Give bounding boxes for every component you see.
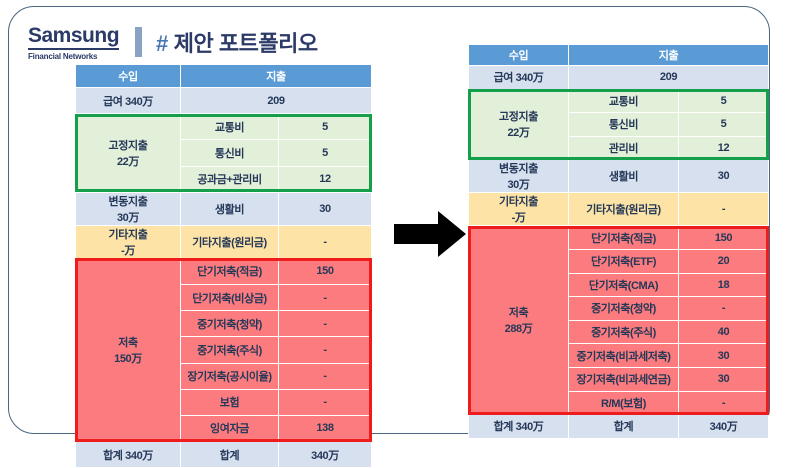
left-portfolio-table: 수입지출급여 340万209고정지출22万교통비5통신비5공과금+관리비12변동…: [75, 64, 372, 468]
expense-item: 단기저축(적금): [181, 258, 279, 284]
group-label-저축: 저축150万: [76, 258, 181, 441]
table-row: 변동지출30万생활비30: [76, 192, 372, 225]
expense-item: R/M(보험): [569, 391, 679, 415]
table-row: 저축288万단기저축(적금)150: [469, 226, 769, 250]
income-total-value: 209: [181, 88, 372, 114]
expense-item: 단기저축(ETF): [569, 249, 679, 273]
income-row: 급여 340万209: [469, 66, 769, 90]
total-income: 합계 340万: [469, 415, 569, 439]
expense-value: 30: [679, 367, 769, 391]
logo-wordmark: Samsung: [28, 24, 119, 50]
logo-subtitle: Financial Networks: [28, 52, 119, 61]
income-row: 급여 340万209: [76, 88, 372, 114]
expense-value: 12: [279, 166, 372, 192]
expense-item: 장기저축(공시이율): [181, 363, 279, 389]
expense-value: -: [279, 284, 372, 310]
expense-item: 생활비: [569, 160, 679, 193]
expense-item: 생활비: [181, 192, 279, 225]
expense-item: 중기저축(청약): [569, 297, 679, 321]
expense-item: 단기저축(비상금): [181, 284, 279, 310]
income-label: 급여 340万: [76, 88, 181, 114]
group-label-저축: 저축288万: [469, 226, 569, 415]
expense-value: 5: [279, 114, 372, 140]
expense-value: -: [279, 311, 372, 337]
expense-value: 12: [679, 136, 769, 160]
expense-value: -: [279, 337, 372, 363]
col-header-income: 수입: [469, 45, 569, 66]
group-label-고정지출: 고정지출22万: [76, 114, 181, 193]
expense-value: -: [679, 391, 769, 415]
expense-item: 통신비: [569, 113, 679, 137]
total-label: 합계: [569, 415, 679, 439]
slide-header: Samsung Financial Networks #제안 포트폴리오: [28, 22, 318, 62]
expense-item: 잉여자금: [181, 415, 279, 441]
table-row: 기타지출-万기타지출(원리금)-: [76, 225, 372, 258]
total-income: 합계 340万: [76, 442, 181, 468]
expense-item: 단기저축(CMA): [569, 273, 679, 297]
expense-item: 보험: [181, 389, 279, 415]
expense-item: 교통비: [569, 89, 679, 113]
col-header-expense: 지출: [181, 65, 372, 88]
table-row: 고정지출22万교통비5: [469, 89, 769, 113]
income-label: 급여 340万: [469, 66, 569, 90]
expense-item: 기타지출(원리금): [181, 225, 279, 258]
title-divider-bar: [135, 27, 142, 57]
expense-value: 138: [279, 415, 372, 441]
total-label: 합계: [181, 442, 279, 468]
expense-value: -: [679, 193, 769, 226]
expense-value: -: [279, 389, 372, 415]
group-label-변동지출: 변동지출30万: [76, 192, 181, 225]
group-label-고정지출: 고정지출22万: [469, 89, 569, 160]
page-title: #제안 포트폴리오: [156, 26, 318, 58]
table-header-row: 수입지출: [469, 45, 769, 66]
expense-item: 중기저축(주식): [181, 337, 279, 363]
right-portfolio-table: 수입지출급여 340万209고정지출22万교통비5통신비5관리비12변동지출30…: [468, 44, 769, 439]
expense-value: 18: [679, 273, 769, 297]
expense-value: 20: [679, 249, 769, 273]
expense-item: 단기저축(적금): [569, 226, 679, 250]
expense-item: 통신비: [181, 140, 279, 166]
table-row: 변동지출30万생활비30: [469, 160, 769, 193]
expense-value: 5: [679, 89, 769, 113]
total-row: 합계 340万합계340万: [76, 442, 372, 468]
page-title-text: 제안 포트폴리오: [174, 31, 318, 56]
expense-value: 40: [679, 320, 769, 344]
expense-value: 30: [679, 344, 769, 368]
expense-item: 중기저축(청약): [181, 311, 279, 337]
expense-value: 5: [279, 140, 372, 166]
samsung-logo: Samsung Financial Networks: [28, 24, 119, 61]
table-header-row: 수입지출: [76, 65, 372, 88]
expense-item: 장기저축(비과세연금): [569, 367, 679, 391]
expense-value: 30: [279, 192, 372, 225]
group-label-기타지출: 기타지출-万: [469, 193, 569, 226]
expense-item: 교통비: [181, 114, 279, 140]
expense-item: 관리비: [569, 136, 679, 160]
expense-value: 5: [679, 113, 769, 137]
total-value: 340万: [279, 442, 372, 468]
right-arrow-icon: [392, 208, 468, 260]
expense-value: -: [279, 363, 372, 389]
expense-value: 150: [279, 258, 372, 284]
expense-item: 공과금+관리비: [181, 166, 279, 192]
expense-value: 150: [679, 226, 769, 250]
total-row: 합계 340万합계340万: [469, 415, 769, 439]
hash-icon: #: [156, 31, 168, 56]
group-label-기타지출: 기타지출-万: [76, 225, 181, 258]
expense-item: 중기저축(주식): [569, 320, 679, 344]
group-label-변동지출: 변동지출30万: [469, 160, 569, 193]
expense-value: -: [679, 297, 769, 321]
col-header-expense: 지출: [569, 45, 769, 66]
expense-value: 30: [679, 160, 769, 193]
expense-item: 중기저축(비과세저축): [569, 344, 679, 368]
expense-item: 기타지출(원리금): [569, 193, 679, 226]
income-total-value: 209: [569, 66, 769, 90]
total-value: 340万: [679, 415, 769, 439]
col-header-income: 수입: [76, 65, 181, 88]
table-row: 저축150万단기저축(적금)150: [76, 258, 372, 284]
table-row: 기타지출-万기타지출(원리금)-: [469, 193, 769, 226]
table-row: 고정지출22万교통비5: [76, 114, 372, 140]
expense-value: -: [279, 225, 372, 258]
